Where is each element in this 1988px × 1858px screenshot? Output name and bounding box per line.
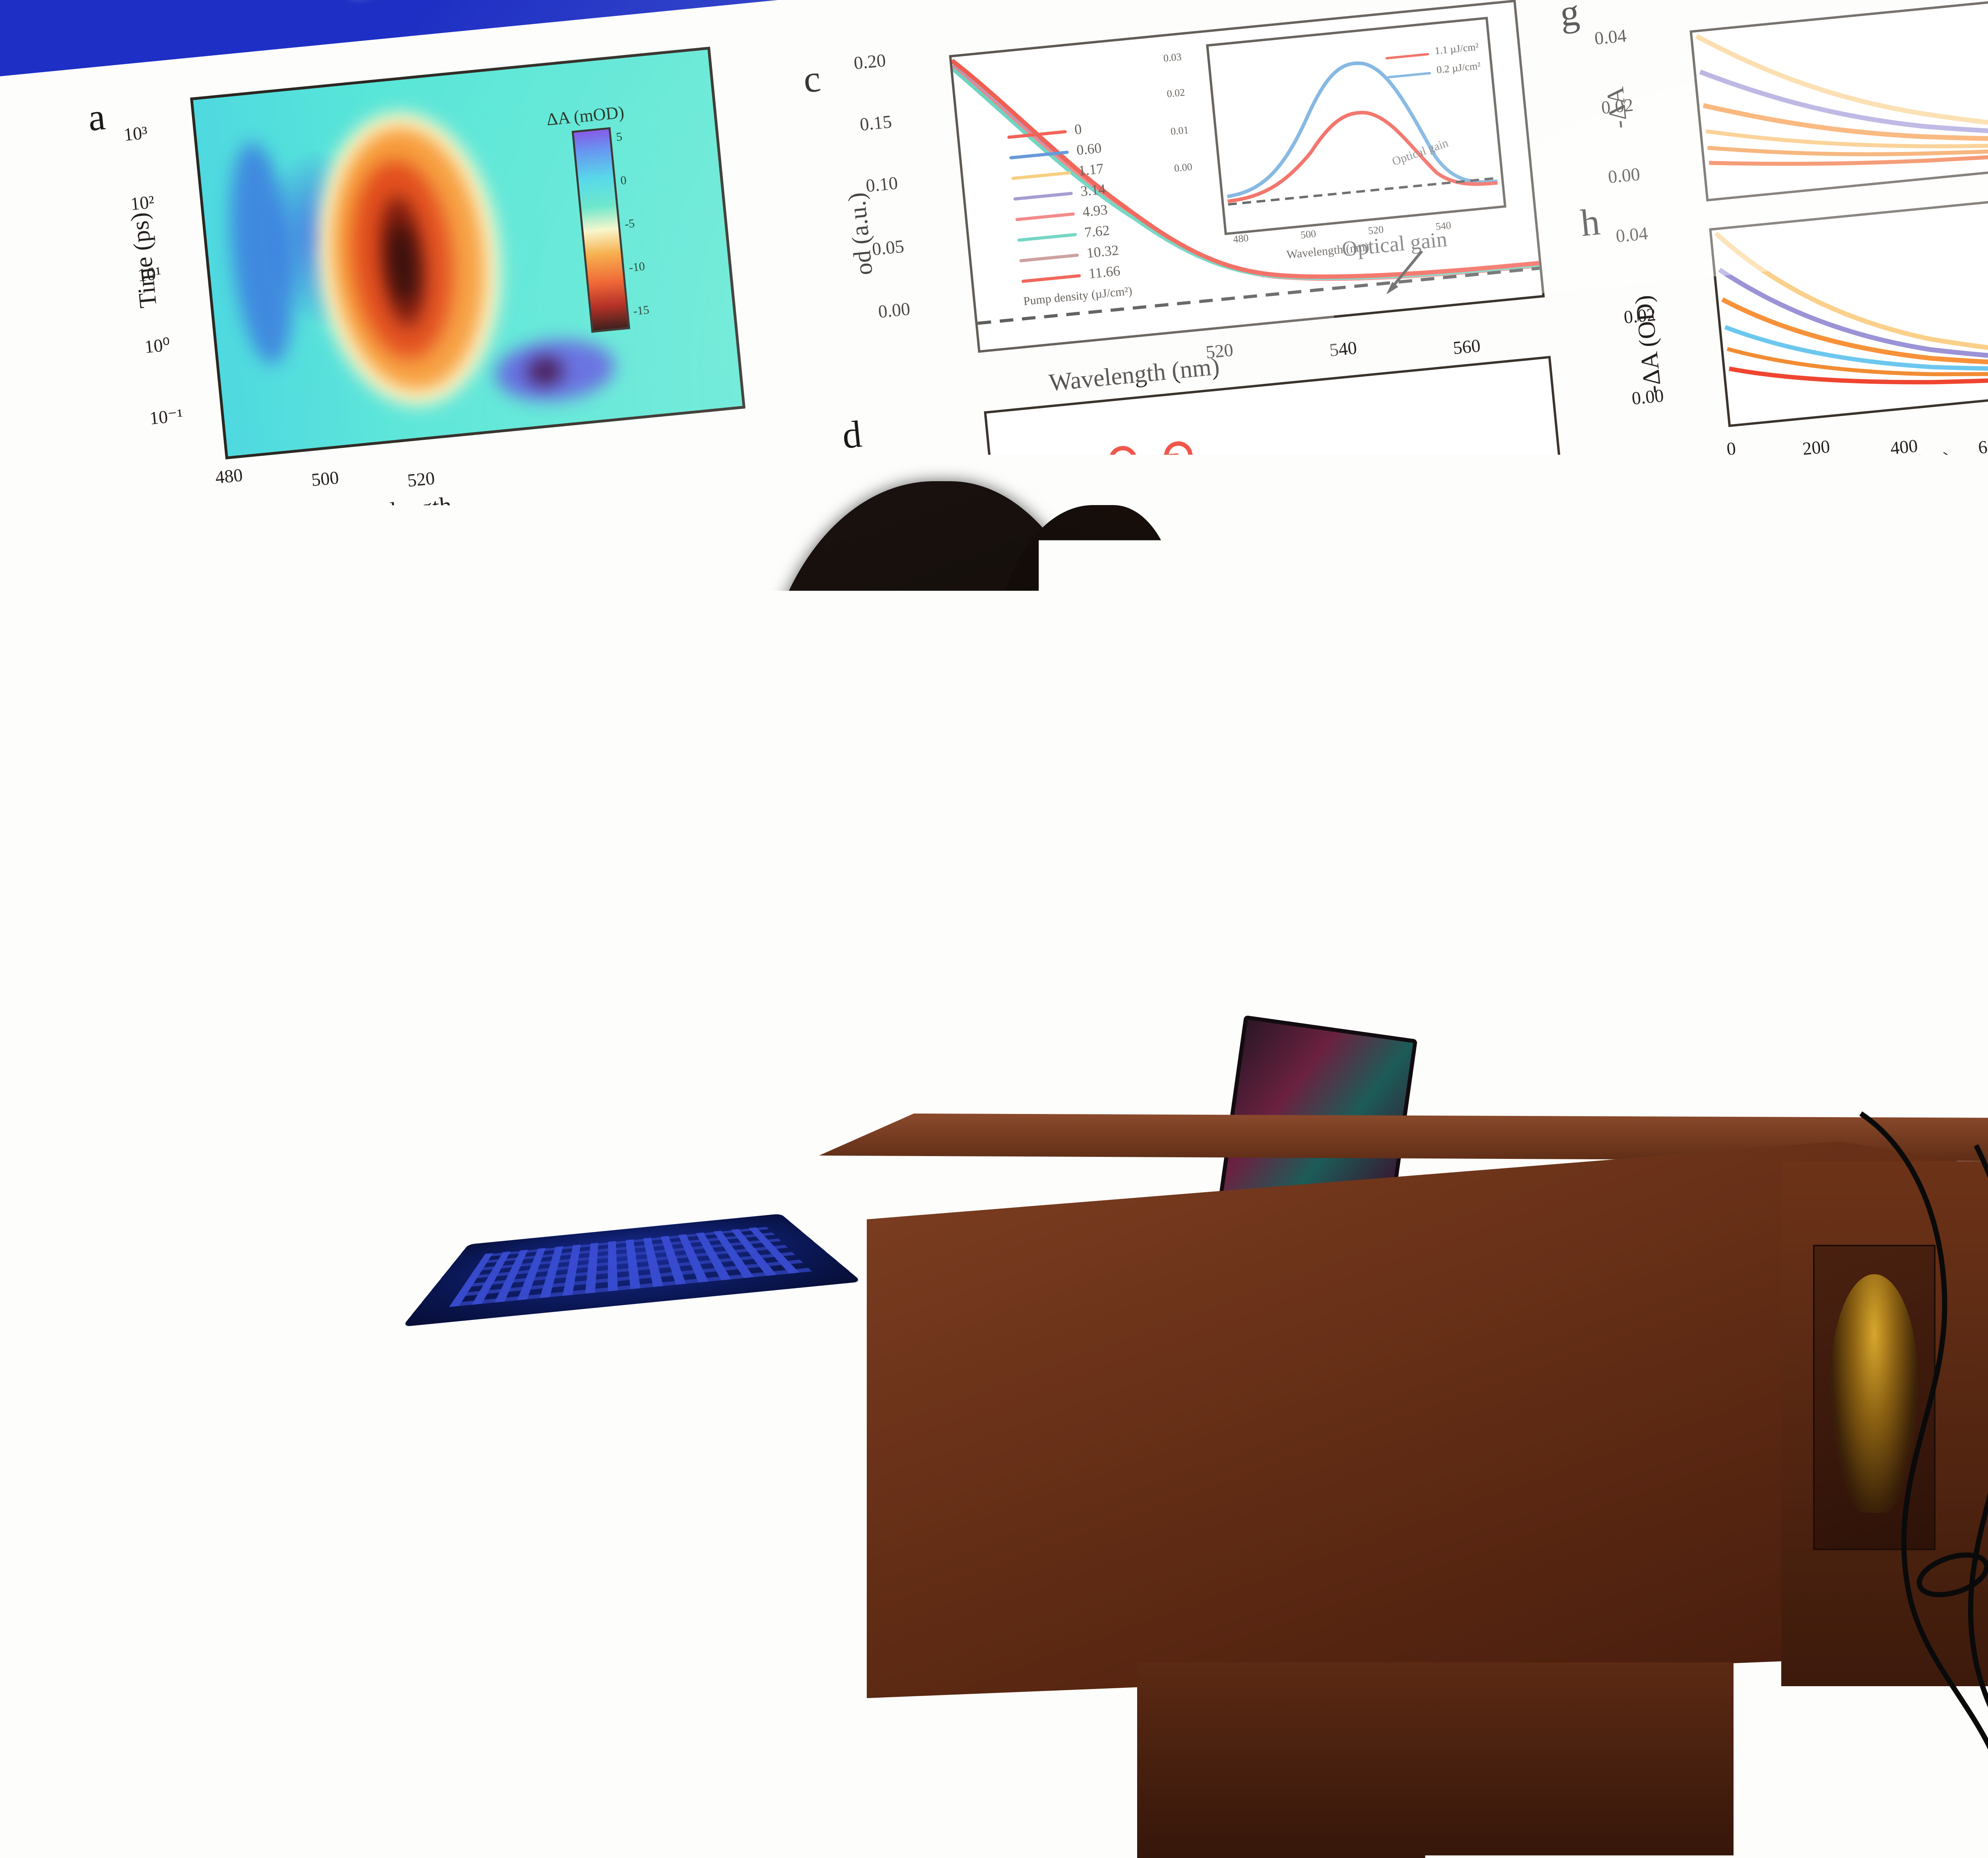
panel-a-xtick: 500 [311,467,340,490]
podium-base [1137,1662,1734,1858]
panel-c-inset-ytick: 0.02 [1166,86,1185,100]
panel-d-right-plot: 28.67 µJ/cm² 6.67 µJ/cm² [1674,680,1988,1127]
panel-e-ytick: 10¹ [252,1456,278,1479]
panel-h-ylabel: -ΔA (OD) [1625,252,1672,437]
podium-cables [1789,1098,1988,1853]
panel-e-ytick: 10⁻⁴ [282,1804,318,1828]
panel-h-xtick: 600 [1977,434,1988,458]
panel-a-xtick: 560 [598,467,627,491]
panel-e-ytick: 10⁻¹ [261,1596,297,1621]
panel-e-xtick: 20 [673,1846,693,1858]
panel-g-plot: CsPbBr 3 [1690,0,1988,202]
panel-c-legend-item: 4.93 [1082,201,1109,220]
panel-c-inset-xtick: 480 [1233,232,1249,246]
panel-c-ytick: 0.00 [877,298,911,322]
panel-c-legend-item: 0.60 [1076,140,1103,159]
panel-a-xtick: 480 [214,464,244,488]
panel-a-heatmap: ΔA (mOD) 5 0 -5 -10 -15 [190,47,745,459]
panel-g-decay-curves: CsPbBr 3 [1692,0,1988,199]
panel-letter-c: c [802,56,823,102]
panel-h-ytick: 0.04 [1615,223,1649,247]
panel-a-ytick: 10² [130,191,155,215]
panel-c-ytick: 0.20 [853,49,887,74]
panel-h-decay-curves: CsPbBr 3 :TPPO [1712,186,1988,424]
panel-c-inset-xtick: 540 [1435,220,1452,233]
panel-c-legend-item: 3.14 [1080,181,1107,200]
panel-c-legend-item: 10.32 [1086,242,1120,262]
panel-h-ytick: 0.02 [1623,304,1657,328]
panel-a-ytick: 10³ [123,122,149,146]
water-photo: Water [1420,804,1685,1026]
panel-b-xtick: 480 [256,894,286,917]
panel-h-xlabel: Time (ps) [1855,447,1953,484]
panel-c-xtick: 560 [1452,335,1481,358]
panel-letter-a: a [86,94,107,140]
panel-g-ytick: 0.04 [1594,25,1627,49]
panel-b-ytick: 10² [173,628,198,652]
colorbar-tick: 0 [620,174,627,188]
panel-c-inset-xtick: 520 [1367,224,1384,237]
colorbar-tick: 5 [615,130,623,144]
panel-e-ytick: 10⁻³ [275,1734,310,1759]
panel-c-inset-ytick: 0.03 [1163,51,1182,64]
panel-a-xtick: 540 [502,468,532,492]
panel-c-legend-item: 1.17 [1078,160,1105,179]
panel-c-legend-item: 11.66 [1088,262,1121,282]
panel-b-xtick: 520 [448,894,478,917]
slide-title-text: 与激发态动力学发展了一系列亚波长尺度钙钛矿 [0,0,1988,53]
colorbar-tick: 0 [662,609,670,623]
panel-c-inset-xtick: 500 [1300,228,1317,241]
panel-e-ytick: 10⁰ [258,1527,286,1551]
panel-letter-b: b [128,521,151,567]
panel-a-ytick: 10⁰ [144,334,171,358]
panel-letter-h: h [1578,199,1602,245]
panel-letter-d-right: d [1602,721,1625,766]
colorbar-tick: -10 [628,260,645,275]
svg-text:28.67 µJ/cm²: 28.67 µJ/cm² [1753,744,1872,780]
panel-letter-g: g [1558,0,1581,35]
colorbar-tick: -30 [673,715,690,730]
panel-c-inset-ytick: 0.01 [1170,124,1189,138]
panel-h-xtick: 200 [1802,435,1831,459]
panel-c-inset-ytick: 0.00 [1174,161,1193,174]
panel-d-mid-xtick: 25 [1353,751,1373,774]
panel-c-xtick: 540 [1328,337,1358,360]
panel-b-se-annotation: SE [561,634,603,673]
panel-e-xtick: 10 [553,1848,574,1858]
panel-h-plot: CsPbBr 3 :TPPO [1709,184,1988,427]
panel-e-xtick: 5 [450,1850,461,1858]
panel-b-xtick: 500 [352,894,382,917]
panel-b-ytick: 10⁰ [186,767,214,791]
panel-c-plot: 0 0.60 1.17 3.14 4.93 7.62 10.32 11.66 P… [949,0,1545,353]
panel-c-ytick: 0.05 [871,235,905,260]
colorbar-tick: 10 [659,573,672,587]
panel-e-ytick: 10⁻² [268,1665,303,1690]
panel-letter-a2: a [159,962,180,1008]
panel-b-heatmap: SE ΔA (mOD) 10 0 -10 -20 -30 -40 [233,484,788,889]
panel-g-ytick: 0.00 [1607,163,1641,188]
panel-a-xtick: 520 [406,467,436,491]
panel-c-inset: 1.1 µJ/cm² 0.2 µJ/cm² Optical gain [1206,17,1507,235]
colorbar-tick: -20 [670,679,687,694]
panel-e-xlabel: Pump density (µJ/cm²) [500,1855,728,1858]
panel-b-ytick: 10⁻¹ [191,838,226,862]
panel-h-ytick: 0.00 [1631,385,1665,409]
panel-b-ytick: 10¹ [179,698,205,721]
panel-h-xtick: 0 [1726,438,1737,460]
panel-c-legend-item: 7.62 [1084,222,1110,241]
panel-b-ytick: 10³ [166,559,192,583]
panel-d-mid-xtick: 30 [1469,749,1489,772]
colorbar-tick: -5 [624,217,635,231]
panel-a-ytick: 10⁻¹ [149,404,184,429]
panel-c-ytick: 0.15 [859,111,893,135]
colorbar-tick: -40 [676,750,693,766]
photo-scene: 与激发态动力学发展了一系列亚波长尺度钙钛矿 a Time (ps) 10³ 10… [0,0,1988,1858]
panel-a-ytick: 10¹ [136,262,162,286]
panel-c-ytick: 0.10 [865,172,899,196]
panel-g-ytick: 0.02 [1600,94,1634,119]
panel-letter-e: e [168,1461,189,1506]
panel-d-right-waterfall: 28.67 µJ/cm² 6.67 µJ/cm² [1674,680,1988,1127]
panel-e-threshold-text: threshold ~ 15.0 µJ/cm² [443,1450,649,1494]
svg-text:6.67 µJ/cm²: 6.67 µJ/cm² [1773,824,1881,859]
colorbar-tick: -10 [666,643,683,659]
colorbar-tick: -15 [633,303,650,318]
